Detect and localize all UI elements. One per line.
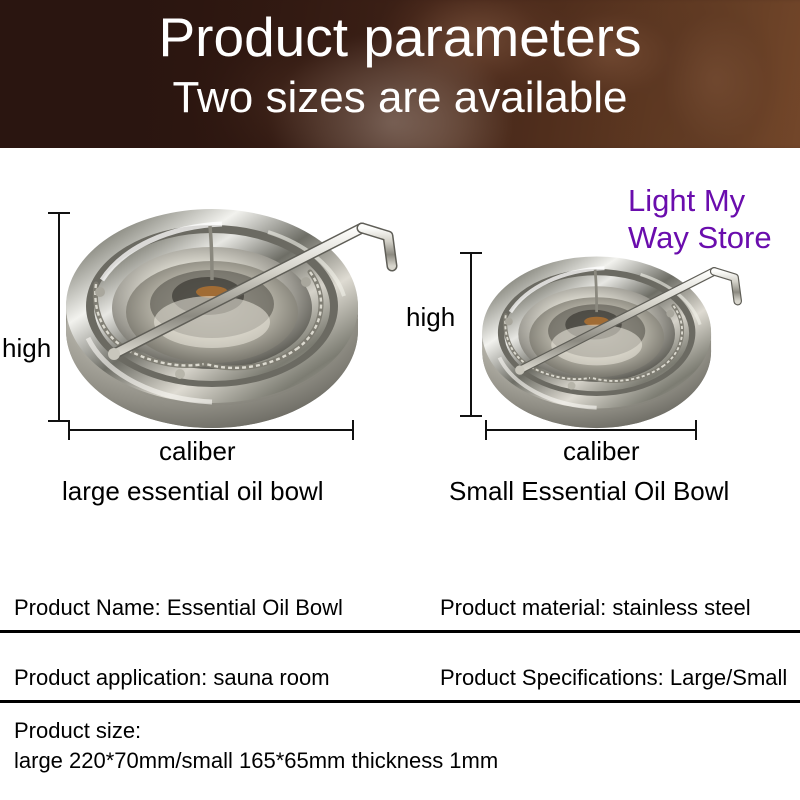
spec-row-2: Product application: sauna room Product … xyxy=(0,656,800,700)
store-watermark-line2: Way Store xyxy=(628,219,800,256)
dimension-line xyxy=(68,429,354,431)
spec-product-material: Product material: stainless steel xyxy=(440,594,751,622)
spec-table: Product Name: Essential Oil Bowl Product… xyxy=(0,556,800,800)
spec-row-1: Product Name: Essential Oil Bowl Product… xyxy=(0,586,800,630)
dimension-cap-bottom xyxy=(460,415,482,417)
dimension-line xyxy=(470,252,472,417)
spec-divider-2 xyxy=(0,700,800,703)
dimension-cap-bottom xyxy=(48,420,70,422)
spec-divider-1 xyxy=(0,630,800,633)
dimension-line xyxy=(485,429,697,431)
dimension-line xyxy=(58,212,60,422)
header-banner: Product parameters Two sizes are availab… xyxy=(0,0,800,148)
banner-text-group: Product parameters Two sizes are availab… xyxy=(0,0,800,148)
spec-product-size: Product size: large 220*70mm/small 165*6… xyxy=(14,716,498,776)
store-watermark: Light My Way Store xyxy=(628,182,800,256)
spec-product-name: Product Name: Essential Oil Bowl xyxy=(14,594,343,622)
large-bowl-height-dimension xyxy=(48,212,70,422)
oil-bowl-icon xyxy=(62,188,442,433)
dimension-cap-right xyxy=(695,420,697,440)
dimension-cap-right xyxy=(352,420,354,440)
page-subtitle: Two sizes are available xyxy=(173,70,628,126)
small-bowl-caliber-label: caliber xyxy=(563,436,640,466)
large-bowl-height-label: high xyxy=(2,333,51,363)
large-bowl-image xyxy=(62,188,442,433)
small-bowl-height-label: high xyxy=(406,302,455,332)
store-watermark-line1: Light My xyxy=(628,182,800,219)
small-bowl-caption: Small Essential Oil Bowl xyxy=(449,475,729,507)
oil-bowl-icon xyxy=(478,240,778,432)
large-bowl-caption: large essential oil bowl xyxy=(62,475,324,507)
page-title: Product parameters xyxy=(159,4,642,70)
spec-product-application: Product application: sauna room xyxy=(14,664,330,692)
small-bowl-height-dimension xyxy=(460,252,482,417)
spec-product-specifications: Product Specifications: Large/Small xyxy=(440,664,787,692)
large-bowl-caliber-label: caliber xyxy=(159,436,236,466)
small-bowl-image xyxy=(478,240,778,432)
